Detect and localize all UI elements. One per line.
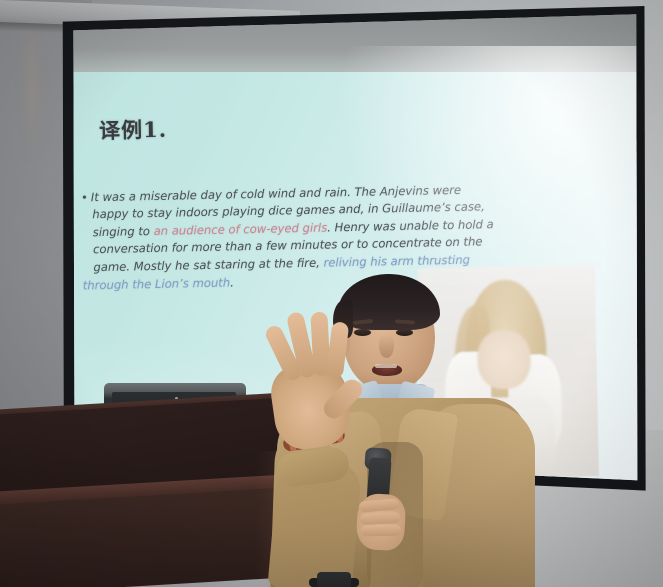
lecture-room-photo: 译例1. •It was a miserable day of cold win… [0, 0, 663, 587]
speaker-mic-finger-2 [360, 512, 401, 525]
speaker-mic-finger-3 [361, 525, 401, 537]
speaker-teeth [375, 364, 397, 368]
speaker [255, 272, 535, 587]
speaker-eye-right [396, 329, 413, 336]
speaker-eye-left [354, 329, 371, 336]
speaker-nose [379, 334, 394, 358]
slide-line-6-period: . [230, 275, 234, 289]
wall-stain [22, 28, 42, 163]
highlight-pink-phrase: an audience of cow-eyed girls [153, 220, 327, 237]
slide-line-3-part-1: singing to [93, 224, 154, 239]
speaker-finger-4 [326, 321, 350, 379]
highlight-blue-phrase-2: through the Lion’s mouth [83, 275, 231, 292]
podium-mic-mount [317, 572, 351, 587]
slide-title: 译例1. [99, 113, 168, 144]
highlight-blue-phrase-1: reliving his arm thrusting [323, 252, 470, 269]
slide-line-3-part-3: . Henry was unable to hold a [327, 217, 494, 234]
slide-line-6: through the Lion’s mouth. [83, 275, 234, 292]
bullet-glyph: • [81, 190, 88, 204]
